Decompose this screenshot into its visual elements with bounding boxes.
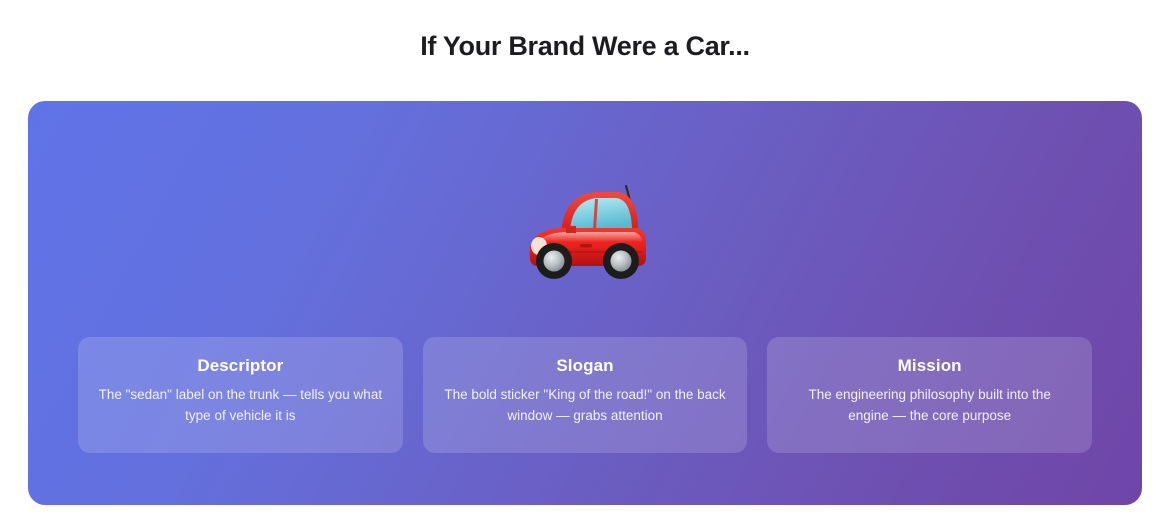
car-emoji bbox=[522, 178, 648, 280]
car-hubcap-rear bbox=[611, 250, 632, 271]
car-body-highlight bbox=[542, 232, 642, 242]
info-card-title: Slogan bbox=[439, 356, 732, 376]
car-mirror bbox=[566, 226, 576, 233]
info-card-description: The "sedan" label on the trunk — tells y… bbox=[94, 385, 387, 426]
car-hubcap-front bbox=[544, 250, 565, 271]
info-card-descriptor: Descriptor The "sedan" label on the trun… bbox=[78, 337, 403, 453]
info-card-slogan: Slogan The bold sticker "King of the roa… bbox=[423, 337, 748, 453]
page-title: If Your Brand Were a Car... bbox=[0, 27, 1170, 65]
car-door-handle bbox=[580, 244, 592, 247]
info-cards-row: Descriptor The "sedan" label on the trun… bbox=[78, 337, 1092, 453]
info-card-title: Descriptor bbox=[94, 356, 387, 376]
page-root: If Your Brand Were a Car... bbox=[0, 0, 1170, 532]
hero-emoji-container bbox=[28, 173, 1142, 285]
info-card-description: The engineering philosophy built into th… bbox=[783, 385, 1076, 426]
info-card-title: Mission bbox=[783, 356, 1076, 376]
hero-gradient-panel: Descriptor The "sedan" label on the trun… bbox=[28, 101, 1142, 505]
info-card-mission: Mission The engineering philosophy built… bbox=[767, 337, 1092, 453]
info-card-description: The bold sticker "King of the road!" on … bbox=[439, 385, 732, 426]
